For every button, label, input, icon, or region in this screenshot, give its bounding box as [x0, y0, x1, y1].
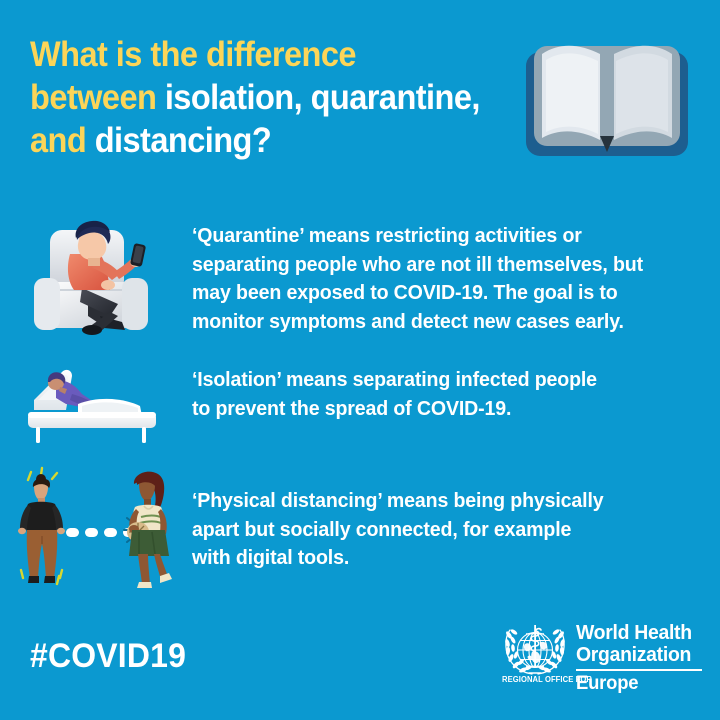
distancing-paragraph: ‘Physical distancing’ means being physic…	[192, 487, 689, 573]
person-lying-on-hospital-bed-illustration	[20, 356, 180, 444]
who-region-name: Europe	[576, 673, 638, 695]
who-logo: World Health Organization REGIONAL OFFIC…	[498, 622, 703, 700]
person-sitting-on-sofa-with-phone-illustration	[26, 212, 176, 337]
headline-line-3-yellow: and	[30, 121, 95, 160]
who-wordmark: World Health Organization	[576, 622, 704, 666]
headline-line-3: and distancing?	[30, 119, 486, 162]
headline-line-1: What is the difference	[30, 33, 486, 76]
who-covid19-infographic: What is the difference between isolation…	[0, 0, 720, 720]
headline-line-2-yellow: between	[30, 78, 165, 117]
headline-line-2-white: isolation, quarantine,	[165, 78, 480, 117]
page-title: What is the difference between isolation…	[30, 33, 486, 162]
two-people-standing-apart-illustration	[8, 466, 193, 591]
who-wordmark-line-2: Organization	[576, 644, 700, 666]
open-book-icon	[512, 28, 702, 163]
headline-line-1-text: What is the difference	[30, 35, 356, 74]
who-divider-rule	[576, 669, 702, 671]
headline-line-3-white: distancing?	[95, 121, 272, 160]
accent-lines-left-feet	[21, 570, 62, 584]
headline-line-2: between isolation, quarantine,	[30, 76, 486, 119]
quarantine-paragraph: ‘Quarantine’ means restricting activitie…	[192, 222, 689, 336]
hashtag-covid19: #COVID19	[30, 637, 186, 676]
who-wordmark-line-1: World Health	[576, 622, 700, 644]
isolation-paragraph: ‘Isolation’ means separating infected pe…	[192, 366, 689, 423]
